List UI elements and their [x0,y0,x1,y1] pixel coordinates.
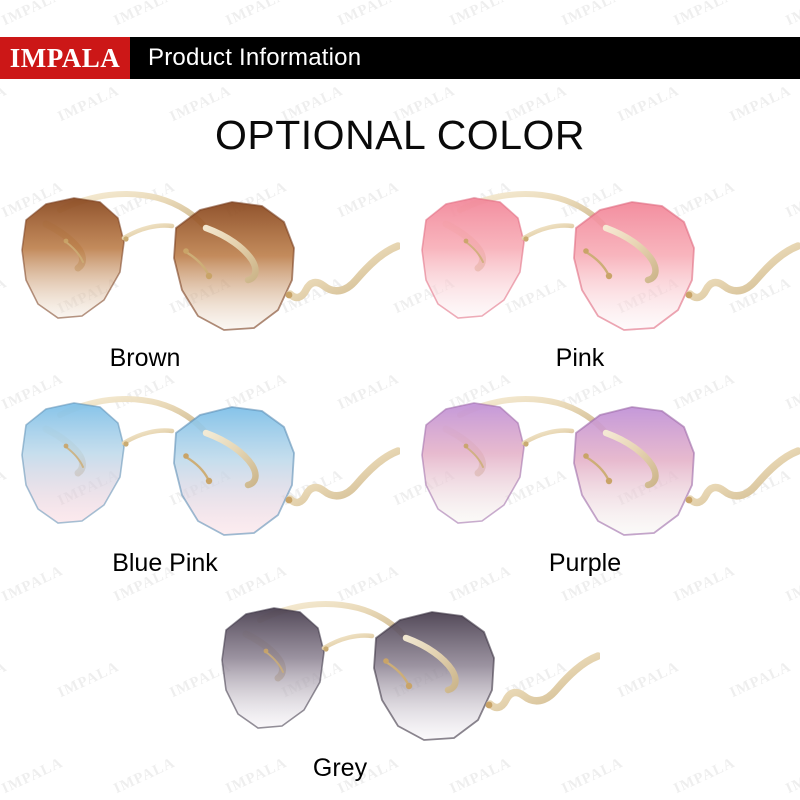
product-row: Brown Pink [0,176,800,381]
watermark-text: IMPALA [783,0,800,30]
sunglasses-image [400,176,800,344]
product-row: Grey [0,586,800,791]
color-label: Blue Pink [0,549,365,578]
watermark-text: IMPALA [447,0,514,30]
watermark-text: IMPALA [559,0,626,30]
product-variant-purple[interactable]: Purple [400,381,800,586]
product-variant-grey[interactable]: Grey [200,586,600,791]
color-label: Purple [385,549,785,578]
header-title: Product Information [130,37,361,79]
sunglasses-image [0,381,400,549]
product-variant-brown[interactable]: Brown [0,176,400,381]
brand-logo-text: IMPALA [10,45,121,72]
product-row: Blue Pink Purple [0,381,800,586]
watermark-text: IMPALA [111,0,178,30]
color-label: Brown [0,344,345,373]
product-variant-pink[interactable]: Pink [400,176,800,381]
watermark-text: IMPALA [223,0,290,30]
sunglasses-image [200,586,600,754]
watermark-text: IMPALA [671,0,738,30]
color-label: Grey [140,754,540,783]
sunglasses-image [0,176,400,344]
watermark-text: IMPALA [0,0,66,30]
sunglasses-image [400,381,800,549]
product-variant-blue-pink[interactable]: Blue Pink [0,381,400,586]
watermark-text: IMPALA [335,0,402,30]
product-grid: Brown Pink [0,176,800,791]
page-title: OPTIONAL COLOR [0,112,800,159]
header-bar: IMPALA Product Information [0,37,800,79]
brand-logo: IMPALA [0,37,130,79]
color-label: Pink [380,344,780,373]
